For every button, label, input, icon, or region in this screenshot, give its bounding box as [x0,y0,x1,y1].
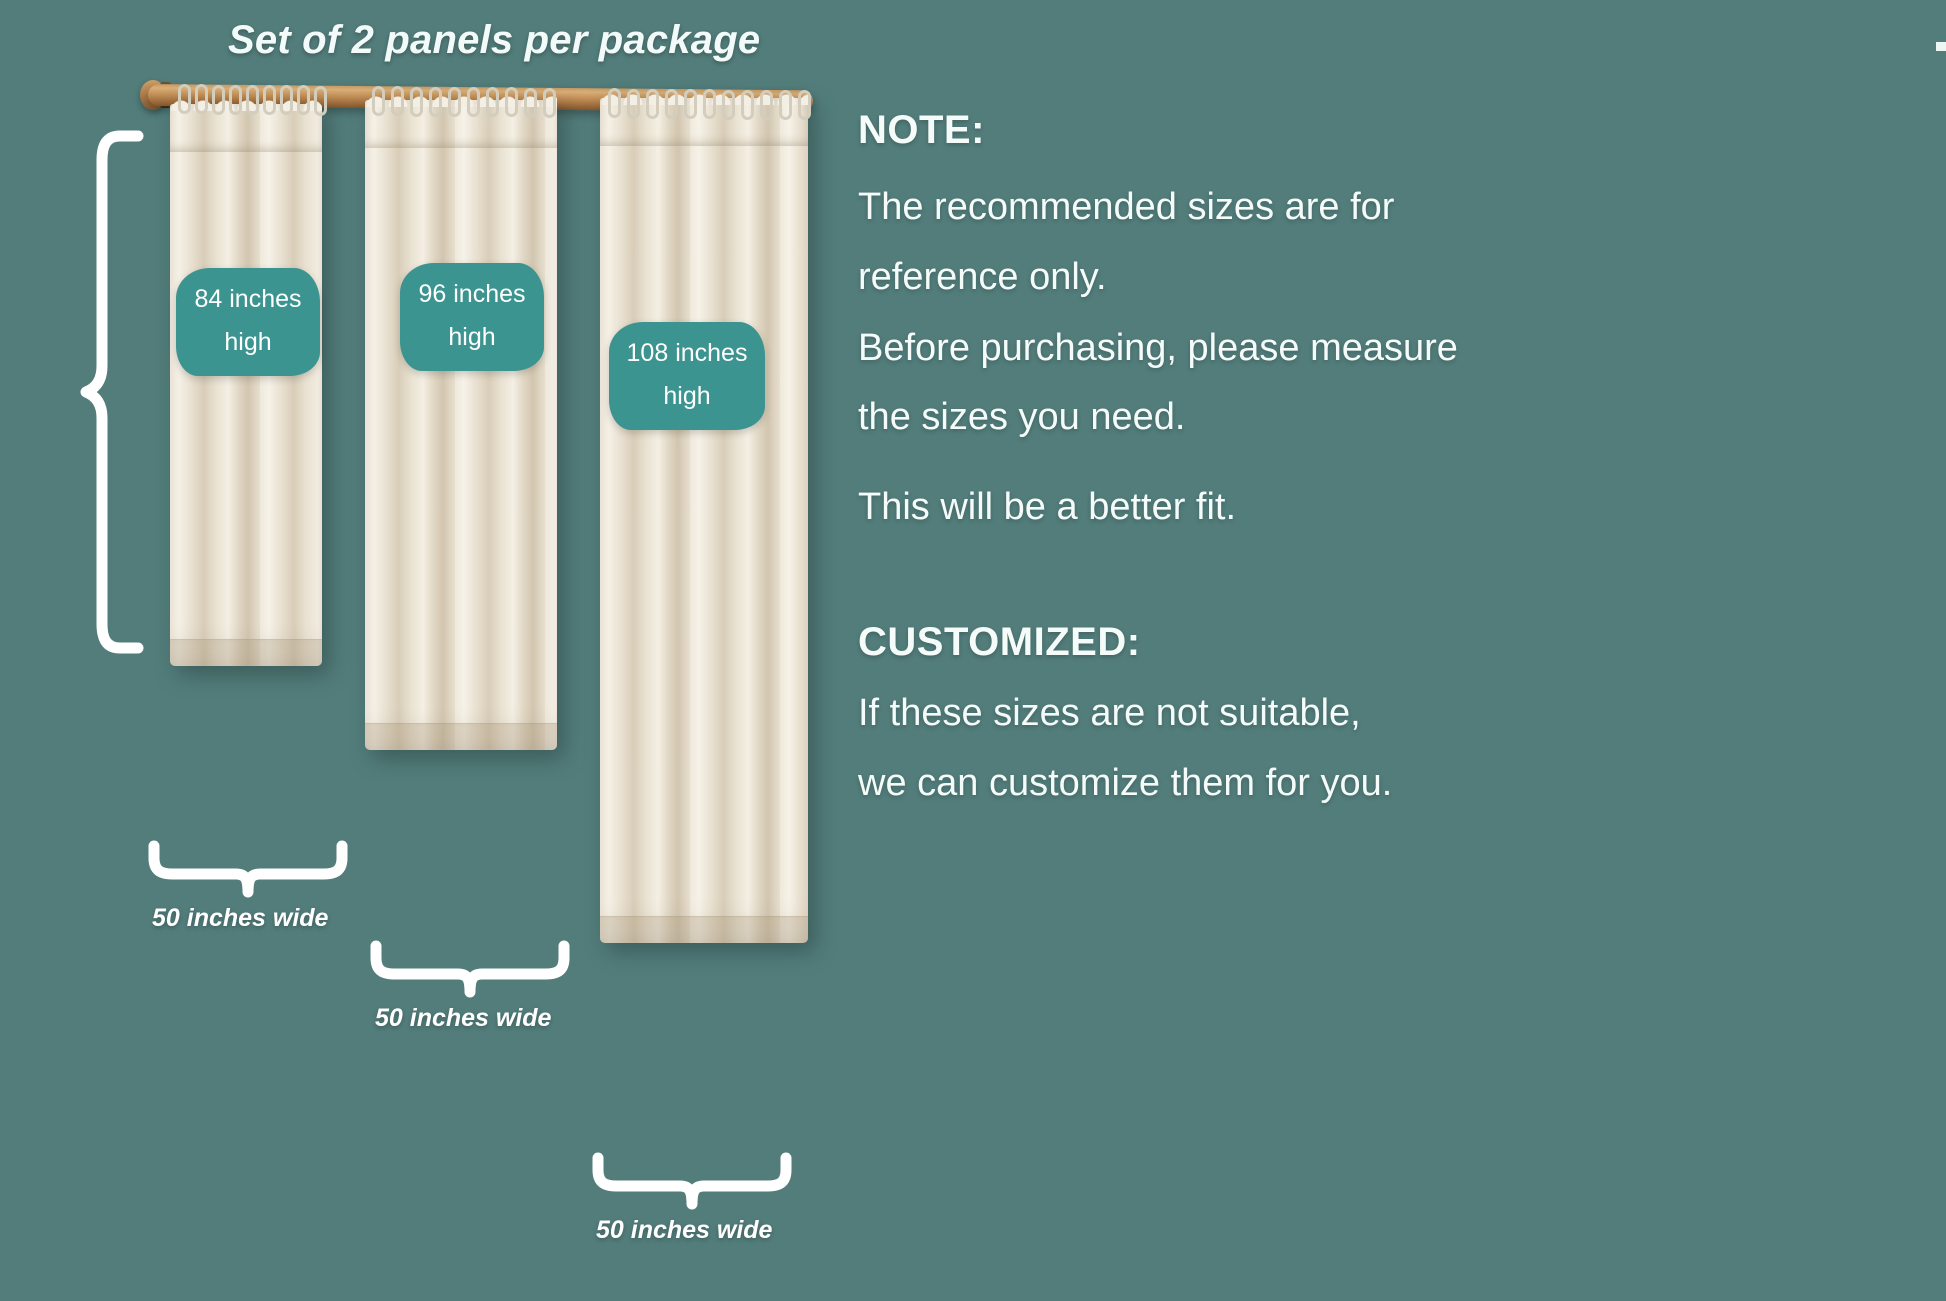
customized-heading: CUSTOMIZED: [858,620,1141,665]
curtain-ring-icon [646,89,659,119]
panel-hem [365,723,557,750]
curtain-ring-icon [297,85,310,115]
height-badge-96: 96 inches high [400,263,544,371]
height-badge-108-unit: high [625,375,749,418]
height-brace-icon [80,130,150,660]
height-badge-108-value: 108 inches [625,332,749,375]
curtain-ring-icon [684,89,697,119]
customized-line-2: we can customize them for you. [858,762,1392,805]
panel-fabric [365,100,557,750]
width-brace-icon-96 [370,940,570,1002]
panel-hem [170,639,322,666]
curtain-ring-icon [314,86,327,116]
curtain-ring-icon [798,90,811,120]
curtain-ring-icon [608,88,621,118]
curtain-ring-icon [178,84,191,114]
height-badge-84-unit: high [192,321,304,364]
curtain-panel-96 [365,100,557,750]
infographic-canvas: Set of 2 panels per package 84 inches hi… [0,0,1946,1301]
curtain-ring-icon [229,85,242,115]
height-badge-108: 108 inches high [609,322,765,430]
curtain-ring-icon [212,85,225,115]
customized-line-1: If these sizes are not suitable, [858,692,1361,735]
width-label-84: 50 inches wide [152,904,328,933]
curtain-ring-icon [505,87,518,117]
curtain-panel-108 [600,98,808,943]
height-badge-96-unit: high [416,316,528,359]
curtain-ring-icon [372,86,385,116]
curtain-ring-icon [246,85,259,115]
curtain-ring-icon [703,89,716,119]
page-title: Set of 2 panels per package [228,18,760,63]
note-line-5: This will be a better fit. [858,486,1236,529]
curtain-ring-icon [391,86,404,116]
panel-fabric [600,98,808,943]
curtain-ring-icon [524,88,537,118]
note-line-1: The recommended sizes are for [858,186,1394,229]
curtain-ring-icon [263,85,276,115]
curtain-ring-icon [486,87,499,117]
curtain-ring-icon [467,87,480,117]
curtain-ring-icon [722,90,735,120]
width-label-108: 50 inches wide [596,1216,772,1245]
width-brace-icon-108 [592,1152,792,1214]
note-line-3: Before purchasing, please measure [858,327,1458,370]
note-heading: NOTE: [858,108,985,153]
height-badge-84: 84 inches high [176,268,320,376]
curtain-ring-icon [543,88,556,118]
height-badge-96-value: 96 inches [416,273,528,316]
curtain-ring-icon [665,89,678,119]
curtain-ring-icon [448,87,461,117]
curtain-ring-icon [410,87,423,117]
note-line-2: reference only. [858,256,1107,299]
height-badge-84-value: 84 inches [192,278,304,321]
width-brace-icon-84 [148,840,348,902]
width-label-96: 50 inches wide [375,1004,551,1033]
curtain-panel-84 [170,104,322,666]
panel-hem [600,916,808,943]
curtain-ring-icon [627,89,640,119]
curtain-ring-icon [195,84,208,114]
corner-artifact [1936,42,1946,51]
curtain-ring-icon [429,87,442,117]
curtain-ring-icon [779,90,792,120]
panel-fabric [170,104,322,666]
curtain-ring-icon [741,90,754,120]
curtain-ring-icon [280,85,293,115]
note-line-4: the sizes you need. [858,396,1185,439]
curtain-ring-icon [760,90,773,120]
